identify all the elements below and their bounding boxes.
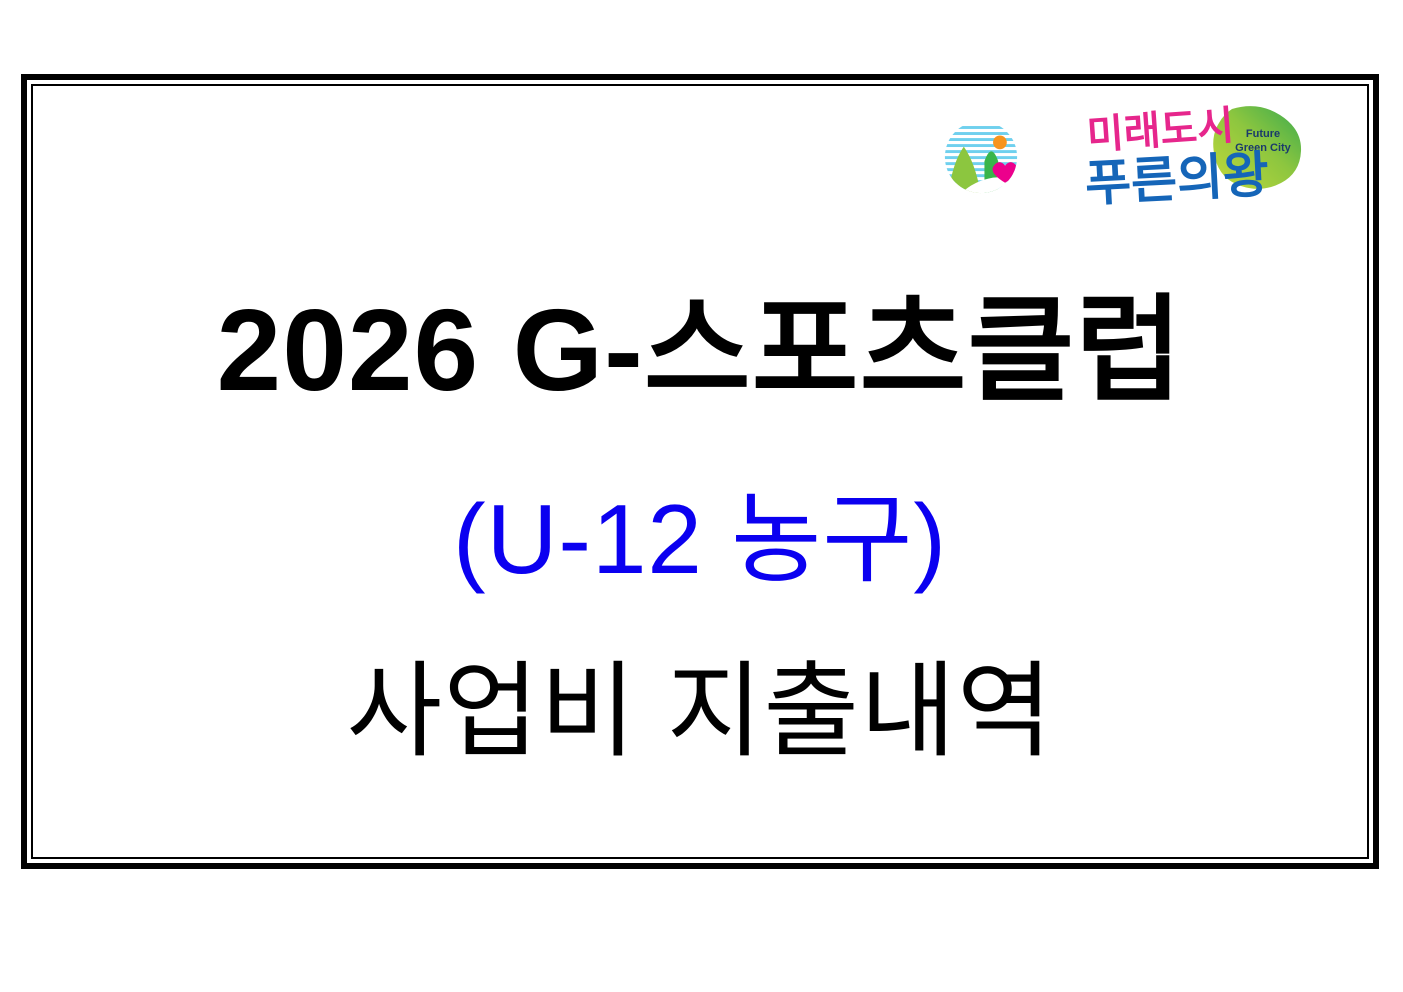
brandmark-line2: 푸른의왕: [1084, 146, 1271, 212]
uiwang-city-emblem-icon: [938, 114, 1024, 200]
page-subtitle-document-type: 사업비 지출내역: [33, 650, 1367, 775]
page-title: 2026 G-스포츠클럽: [33, 282, 1367, 419]
cover-page: Future Green City 미래도시 푸른의왕 2026 G-스포츠클럽…: [0, 0, 1403, 992]
page-border-outer: Future Green City 미래도시 푸른의왕 2026 G-스포츠클럽…: [21, 74, 1379, 869]
page-subtitle-category: (U-12 농구): [33, 481, 1367, 599]
brandmark-tagline-line1: Future: [1246, 128, 1280, 140]
page-border-inner: Future Green City 미래도시 푸른의왕 2026 G-스포츠클럽…: [31, 84, 1369, 859]
headline-block: 2026 G-스포츠클럽 (U-12 농구) 사업비 지출내역: [33, 282, 1367, 775]
uiwang-brandmark-logo: Future Green City 미래도시 푸른의왕: [1080, 101, 1315, 213]
logo-row: Future Green City 미래도시 푸른의왕: [938, 102, 1315, 212]
